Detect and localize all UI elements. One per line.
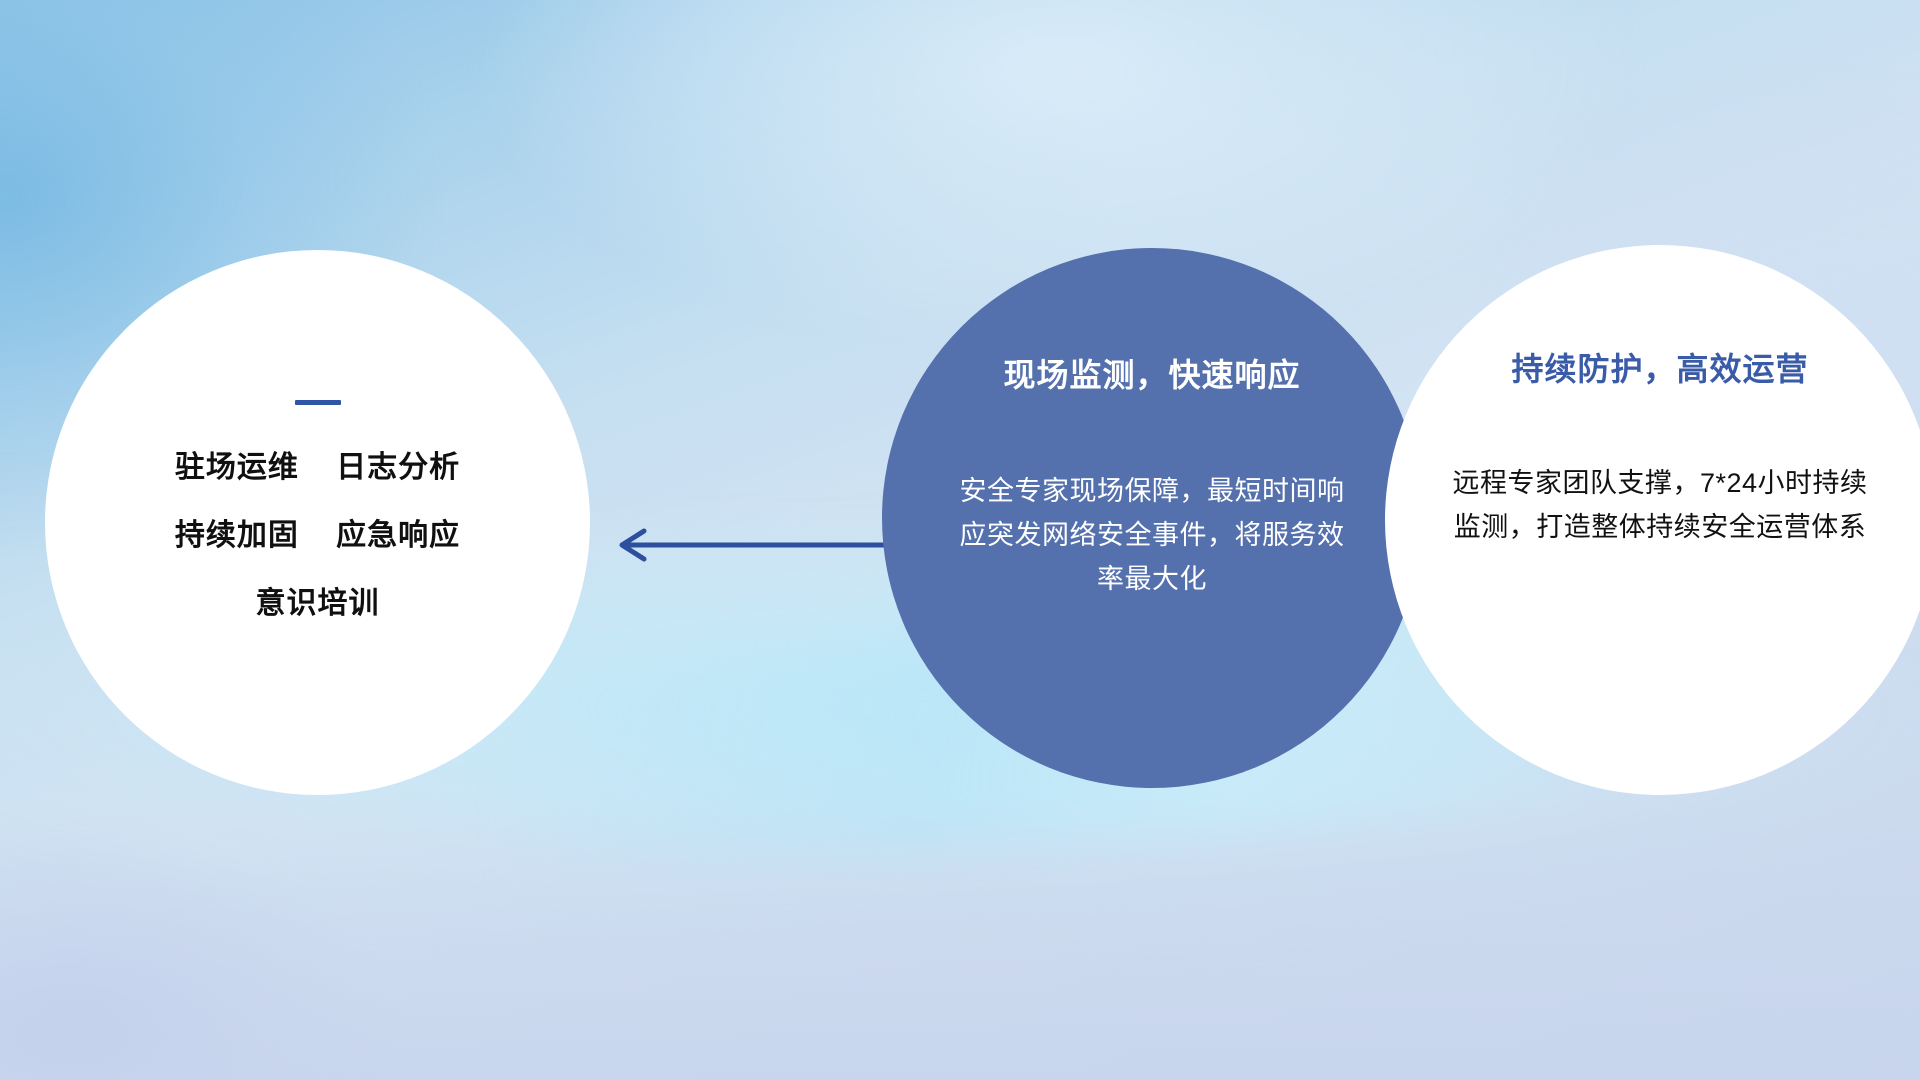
circle-continuous-protection[interactable]: 持续防护，高效运营 远程专家团队支撑，7*24小时持续监测，打造整体持续安全运营…	[1385, 245, 1920, 795]
continuous-protection-title: 持续防护，高效运营	[1445, 350, 1875, 388]
onsite-monitoring-title: 现场监测，快速响应	[956, 356, 1348, 394]
circle-capabilities[interactable]: 驻场运维 日志分析 持续加固 应急响应 意识培训	[45, 250, 590, 795]
capability-line-3: 意识培训	[108, 589, 528, 619]
flow-arrow-left-icon	[600, 520, 900, 570]
background-bottom-fade	[0, 799, 1920, 1080]
circle-onsite-monitoring-content: 现场监测，快速响应 安全专家现场保障，最短时间响应突发网络安全事件，将服务效率最…	[956, 356, 1348, 602]
continuous-protection-body: 远程专家团队支撑，7*24小时持续监测，打造整体持续安全运营体系	[1445, 462, 1875, 549]
capability-line-2: 持续加固 应急响应	[108, 521, 528, 551]
diagram-canvas: 驻场运维 日志分析 持续加固 应急响应 意识培训 现场监测，快速响应 安全专家现…	[0, 0, 1920, 1080]
circle-capabilities-content: 驻场运维 日志分析 持续加固 应急响应 意识培训	[108, 400, 528, 619]
circle-onsite-monitoring[interactable]: 现场监测，快速响应 安全专家现场保障，最短时间响应突发网络安全事件，将服务效率最…	[882, 248, 1422, 788]
onsite-monitoring-body: 安全专家现场保障，最短时间响应突发网络安全事件，将服务效率最大化	[956, 470, 1348, 601]
capability-line-1: 驻场运维 日志分析	[108, 453, 528, 483]
circle-continuous-protection-content: 持续防护，高效运营 远程专家团队支撑，7*24小时持续监测，打造整体持续安全运营…	[1445, 350, 1875, 550]
divider-dash-icon	[295, 400, 341, 405]
